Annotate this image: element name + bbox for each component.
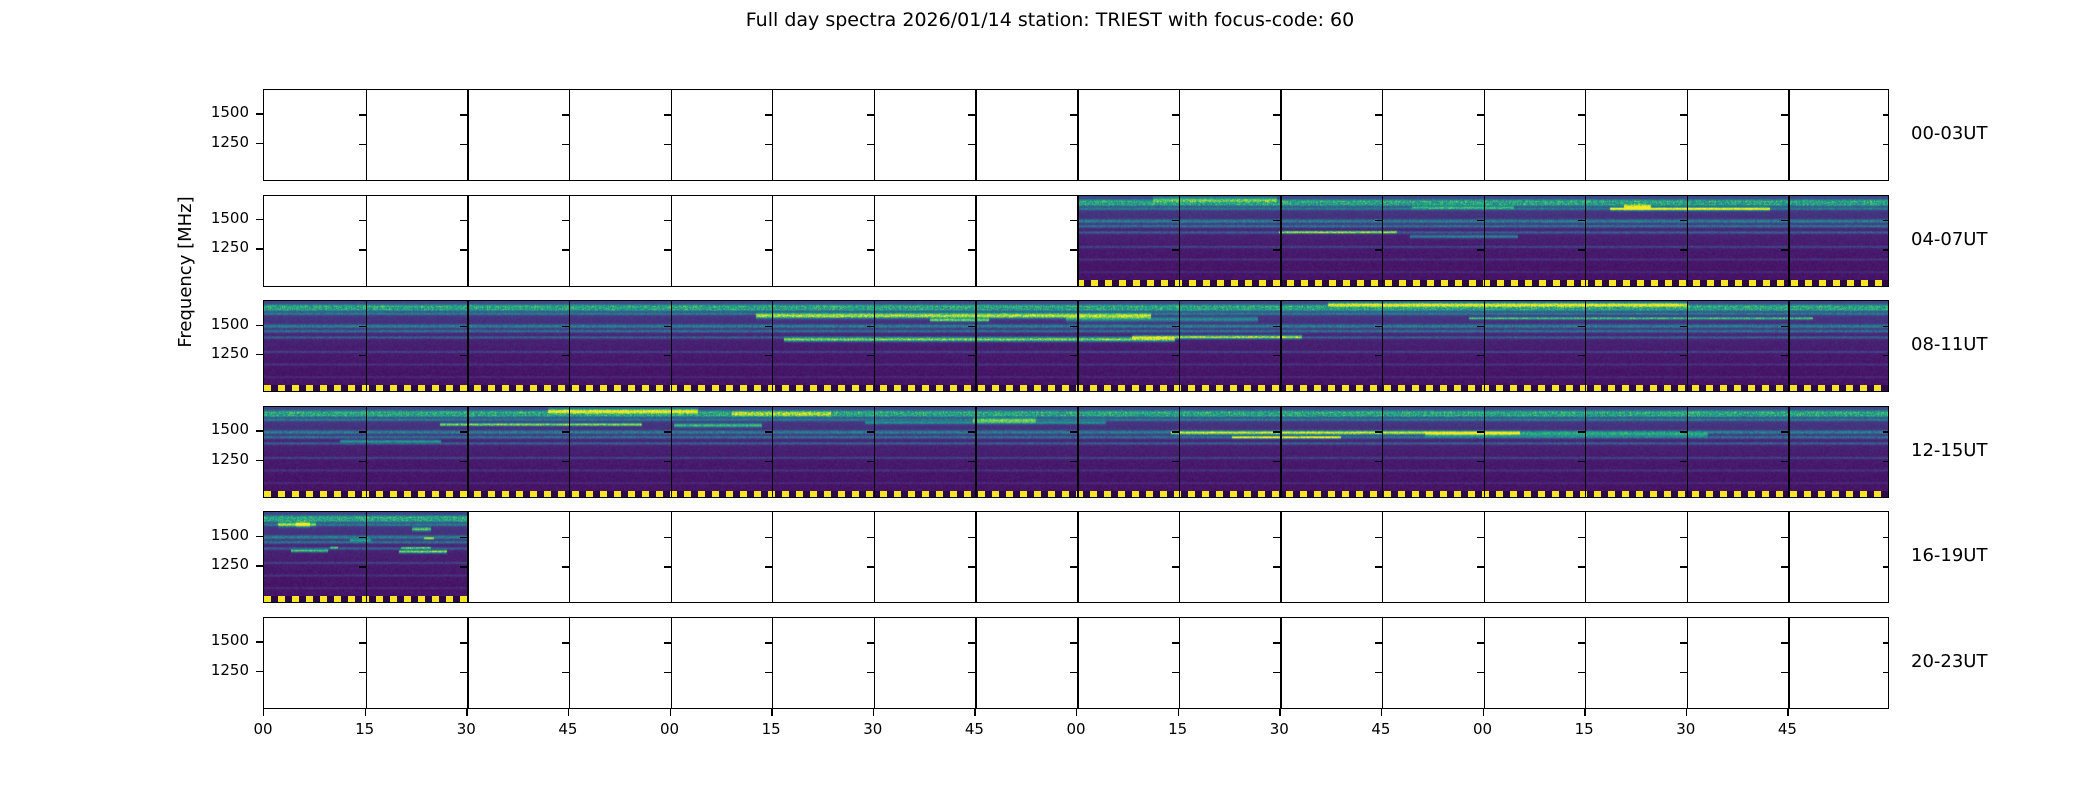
spectrogram-row-frame <box>263 617 1889 709</box>
y-tick-mark <box>1273 144 1280 145</box>
panel-separator <box>467 618 468 708</box>
panel-separator <box>1179 512 1180 602</box>
panel-separator <box>1179 301 1180 391</box>
y-tick-mark <box>1273 672 1280 673</box>
y-tick-label: 1500 <box>205 420 249 438</box>
panel-separator <box>874 301 875 391</box>
y-tick-mark <box>1578 461 1585 462</box>
y-tick-mark <box>1578 249 1585 250</box>
y-tick-mark <box>1781 642 1788 643</box>
y-tick-mark <box>460 114 467 115</box>
y-tick-mark <box>562 566 569 567</box>
y-tick-mark <box>968 326 975 327</box>
y-tick-mark <box>1273 114 1280 115</box>
y-tick-mark <box>1883 672 1889 673</box>
x-tick-label: 45 <box>954 720 994 738</box>
panel-separator <box>1788 407 1789 497</box>
y-tick-mark <box>867 114 874 115</box>
panel-separator <box>1382 196 1383 286</box>
x-tick-mark <box>873 709 874 716</box>
y-tick-mark <box>460 461 467 462</box>
y-tick-mark <box>664 144 671 145</box>
panel-separator <box>975 512 976 602</box>
y-tick-mark <box>460 326 467 327</box>
spectrogram-row-frame <box>263 89 1889 181</box>
y-tick-mark <box>359 537 366 538</box>
y-tick-mark <box>1172 431 1179 432</box>
y-tick-mark-outer <box>256 460 263 461</box>
y-tick-mark <box>1578 114 1585 115</box>
y-tick-mark <box>1273 461 1280 462</box>
y-tick-mark <box>1172 537 1179 538</box>
y-tick-mark <box>664 566 671 567</box>
y-tick-mark <box>1070 537 1077 538</box>
y-tick-mark <box>867 537 874 538</box>
panel-separator <box>1687 407 1688 497</box>
y-tick-mark <box>968 537 975 538</box>
y-tick-mark <box>359 144 366 145</box>
y-tick-mark <box>460 144 467 145</box>
panel-separator <box>671 407 672 497</box>
y-tick-mark <box>359 431 366 432</box>
spectrogram-row: 15001250 <box>263 89 1889 181</box>
y-tick-mark <box>1172 461 1179 462</box>
spectrogram-row-frame <box>263 406 1889 498</box>
y-tick-mark <box>460 431 467 432</box>
y-tick-mark <box>1273 642 1280 643</box>
panel-separator <box>772 196 773 286</box>
panel-separator <box>671 512 672 602</box>
y-tick-mark-outer <box>256 143 263 144</box>
y-tick-mark <box>1680 144 1687 145</box>
x-tick-mark <box>1483 709 1484 716</box>
x-tick-mark <box>1178 709 1179 716</box>
y-tick-mark <box>1273 355 1280 356</box>
panel-separator <box>1280 618 1281 708</box>
panel-separator <box>1382 407 1383 497</box>
panel-separator <box>569 512 570 602</box>
y-tick-mark <box>1070 566 1077 567</box>
panel-separator <box>1382 512 1383 602</box>
x-tick-label: 15 <box>1158 720 1198 738</box>
y-tick-label: 1250 <box>205 555 249 573</box>
y-tick-mark-outer <box>256 219 263 220</box>
panel-separator <box>1280 196 1281 286</box>
y-tick-mark <box>460 249 467 250</box>
panel-separator <box>1484 90 1485 180</box>
y-tick-mark <box>867 249 874 250</box>
y-tick-mark <box>664 326 671 327</box>
y-tick-mark <box>460 220 467 221</box>
panel-separator <box>569 301 570 391</box>
spectrogram-row: 15001250 <box>263 511 1889 603</box>
y-tick-mark <box>867 431 874 432</box>
figure-title: Full day spectra 2026/01/14 station: TRI… <box>0 9 2100 31</box>
panel-separator <box>671 301 672 391</box>
y-tick-mark <box>562 431 569 432</box>
panel-separator <box>975 301 976 391</box>
row-time-label: 00-03UT <box>1911 123 1987 144</box>
panel-separator <box>1484 196 1485 286</box>
panel-separator <box>975 618 976 708</box>
y-tick-mark <box>1883 249 1889 250</box>
y-tick-mark <box>765 326 772 327</box>
y-tick-mark <box>1883 326 1889 327</box>
y-tick-mark <box>867 461 874 462</box>
x-tick-mark <box>568 709 569 716</box>
spectrogram-row: 15001250 <box>263 617 1889 709</box>
y-tick-mark <box>1680 672 1687 673</box>
x-tick-mark <box>365 709 366 716</box>
y-tick-mark <box>1883 537 1889 538</box>
panel-separator <box>874 407 875 497</box>
y-tick-mark <box>968 431 975 432</box>
y-tick-mark <box>867 144 874 145</box>
y-tick-mark <box>867 355 874 356</box>
y-tick-mark <box>968 642 975 643</box>
panel-separator <box>1077 196 1079 286</box>
y-tick-mark <box>1477 144 1484 145</box>
y-tick-mark <box>460 537 467 538</box>
panel-separator <box>366 301 367 391</box>
spectrogram-row-frame <box>263 300 1889 392</box>
x-tick-label: 30 <box>1259 720 1299 738</box>
y-tick-mark <box>1477 537 1484 538</box>
y-tick-mark <box>1883 642 1889 643</box>
y-tick-mark <box>1781 537 1788 538</box>
y-tick-mark <box>562 672 569 673</box>
y-tick-mark <box>1578 326 1585 327</box>
y-tick-mark <box>1781 431 1788 432</box>
y-tick-mark <box>562 114 569 115</box>
x-tick-label: 30 <box>446 720 486 738</box>
panel-separator <box>366 407 367 497</box>
y-tick-mark <box>765 249 772 250</box>
y-tick-mark <box>1883 220 1889 221</box>
y-tick-mark <box>968 355 975 356</box>
y-tick-mark <box>1172 114 1179 115</box>
y-tick-mark <box>968 144 975 145</box>
x-tick-label: 15 <box>751 720 791 738</box>
y-tick-mark <box>1578 537 1585 538</box>
panel-separator <box>569 407 570 497</box>
x-tick-mark <box>466 709 467 716</box>
y-tick-mark <box>765 220 772 221</box>
y-tick-mark <box>664 642 671 643</box>
y-tick-mark <box>1680 566 1687 567</box>
y-tick-mark <box>1375 249 1382 250</box>
y-tick-mark <box>1781 326 1788 327</box>
panel-separator <box>1585 90 1586 180</box>
y-tick-mark <box>1578 220 1585 221</box>
y-tick-mark <box>359 566 366 567</box>
y-tick-label: 1250 <box>205 133 249 151</box>
y-tick-mark <box>1680 537 1687 538</box>
y-tick-mark <box>460 566 467 567</box>
panel-separator <box>569 196 570 286</box>
y-tick-mark <box>664 672 671 673</box>
panel-separator <box>1788 196 1789 286</box>
panel-separator <box>975 196 976 286</box>
y-tick-mark <box>1781 461 1788 462</box>
y-tick-mark <box>1578 355 1585 356</box>
panel-separator <box>1585 196 1586 286</box>
spectrogram-row-frame <box>263 195 1889 287</box>
y-tick-mark <box>1273 249 1280 250</box>
panel-separator <box>671 90 672 180</box>
panel-separator <box>1077 512 1079 602</box>
y-tick-mark <box>562 249 569 250</box>
panel-separator <box>1484 512 1485 602</box>
y-tick-mark <box>1578 144 1585 145</box>
x-tick-label: 45 <box>1361 720 1401 738</box>
y-tick-mark <box>1070 114 1077 115</box>
panel-separator <box>569 618 570 708</box>
y-tick-mark <box>1477 431 1484 432</box>
panel-separator <box>366 196 367 286</box>
y-tick-mark <box>1375 326 1382 327</box>
y-tick-mark <box>1477 249 1484 250</box>
y-tick-label: 1500 <box>205 103 249 121</box>
y-tick-mark <box>1578 566 1585 567</box>
row-time-label: 04-07UT <box>1911 229 1987 250</box>
panel-separator <box>1585 618 1586 708</box>
panel-separator <box>1382 618 1383 708</box>
panel-separator <box>1484 407 1485 497</box>
y-tick-mark <box>1680 461 1687 462</box>
x-tick-mark <box>1076 709 1077 716</box>
y-tick-mark <box>765 144 772 145</box>
y-tick-mark <box>1781 355 1788 356</box>
y-tick-mark <box>1273 431 1280 432</box>
x-tick-label: 45 <box>548 720 588 738</box>
y-tick-mark-outer <box>256 248 263 249</box>
x-tick-mark <box>1787 709 1788 716</box>
x-tick-label: 00 <box>1463 720 1503 738</box>
y-tick-mark <box>1680 431 1687 432</box>
y-tick-mark <box>1375 672 1382 673</box>
y-tick-mark <box>1477 326 1484 327</box>
y-tick-mark <box>1781 566 1788 567</box>
y-tick-mark <box>359 114 366 115</box>
panel-separator <box>874 618 875 708</box>
y-tick-mark <box>664 431 671 432</box>
y-tick-mark <box>562 461 569 462</box>
y-tick-mark <box>968 114 975 115</box>
y-tick-mark <box>765 537 772 538</box>
x-tick-label: 30 <box>1666 720 1706 738</box>
y-tick-mark <box>1375 566 1382 567</box>
panel-separator <box>467 196 468 286</box>
y-tick-mark <box>1883 431 1889 432</box>
row-time-label: 16-19UT <box>1911 545 1987 566</box>
y-tick-mark <box>765 566 772 567</box>
row-time-label: 08-11UT <box>1911 334 1987 355</box>
y-tick-mark <box>1781 220 1788 221</box>
y-tick-mark <box>562 144 569 145</box>
y-tick-mark <box>765 672 772 673</box>
y-tick-label: 1500 <box>205 631 249 649</box>
y-tick-mark <box>1680 220 1687 221</box>
y-tick-label: 1500 <box>205 526 249 544</box>
panel-separator <box>874 512 875 602</box>
panel-separator <box>1179 618 1180 708</box>
y-tick-mark <box>765 355 772 356</box>
y-tick-mark <box>968 249 975 250</box>
row-time-label: 12-15UT <box>1911 440 1987 461</box>
y-tick-mark <box>765 114 772 115</box>
y-tick-mark <box>1375 642 1382 643</box>
y-tick-mark <box>1680 642 1687 643</box>
y-tick-mark <box>867 326 874 327</box>
y-tick-label: 1500 <box>205 315 249 333</box>
y-tick-mark <box>968 220 975 221</box>
y-tick-mark <box>460 355 467 356</box>
panel-separator <box>1484 618 1485 708</box>
y-tick-mark-outer <box>256 325 263 326</box>
y-tick-mark <box>1680 326 1687 327</box>
x-tick-label: 00 <box>1056 720 1096 738</box>
y-tick-mark <box>1883 144 1889 145</box>
panel-separator <box>1687 618 1688 708</box>
x-tick-mark <box>1381 709 1382 716</box>
panel-separator <box>975 90 976 180</box>
panel-separator <box>467 301 468 391</box>
panel-separator <box>1280 512 1281 602</box>
y-tick-mark <box>1781 249 1788 250</box>
panel-separator <box>772 618 773 708</box>
panel-separator <box>1280 90 1281 180</box>
y-tick-mark <box>1172 566 1179 567</box>
y-tick-mark <box>562 537 569 538</box>
y-tick-mark <box>765 461 772 462</box>
panel-separator <box>467 90 468 180</box>
y-tick-mark <box>562 326 569 327</box>
y-tick-mark-outer <box>256 536 263 537</box>
y-tick-mark-outer <box>256 565 263 566</box>
y-tick-mark <box>1883 355 1889 356</box>
y-tick-mark-outer <box>256 430 263 431</box>
panel-separator <box>1788 90 1789 180</box>
y-tick-mark <box>1375 220 1382 221</box>
y-tick-mark <box>968 672 975 673</box>
y-tick-mark-outer <box>256 671 263 672</box>
y-tick-mark <box>1070 326 1077 327</box>
y-tick-mark <box>1375 461 1382 462</box>
panel-separator <box>1687 512 1688 602</box>
y-tick-mark <box>867 642 874 643</box>
panel-separator <box>671 618 672 708</box>
y-tick-label: 1500 <box>205 209 249 227</box>
y-tick-mark <box>1172 144 1179 145</box>
figure-canvas: Full day spectra 2026/01/14 station: TRI… <box>0 0 2100 800</box>
y-tick-mark <box>1477 672 1484 673</box>
y-tick-mark <box>1375 537 1382 538</box>
panel-separator <box>467 512 468 602</box>
x-tick-mark <box>670 709 671 716</box>
panel-separator <box>1280 301 1281 391</box>
spectrogram-row: 15001250 <box>263 195 1889 287</box>
y-tick-mark <box>562 220 569 221</box>
y-axis-label: Frequency [MHz] <box>175 142 197 402</box>
y-tick-mark <box>1273 326 1280 327</box>
y-tick-mark <box>359 220 366 221</box>
x-tick-label: 15 <box>1564 720 1604 738</box>
y-tick-mark <box>1883 566 1889 567</box>
x-tick-label: 45 <box>1767 720 1807 738</box>
y-tick-mark <box>1477 642 1484 643</box>
y-tick-mark <box>1070 249 1077 250</box>
x-tick-mark <box>1279 709 1280 716</box>
panel-separator <box>772 90 773 180</box>
y-tick-mark <box>1477 461 1484 462</box>
y-tick-mark-outer <box>256 641 263 642</box>
panel-separator <box>1077 301 1079 391</box>
panel-separator <box>1585 301 1586 391</box>
panel-separator <box>772 301 773 391</box>
y-tick-mark <box>1273 566 1280 567</box>
panel-separator <box>1788 618 1789 708</box>
panel-separator <box>671 196 672 286</box>
y-tick-mark <box>1273 537 1280 538</box>
y-tick-mark <box>1578 431 1585 432</box>
y-tick-mark <box>968 461 975 462</box>
y-tick-mark <box>664 220 671 221</box>
x-tick-mark <box>974 709 975 716</box>
y-tick-label: 1250 <box>205 344 249 362</box>
y-tick-mark <box>1070 144 1077 145</box>
y-tick-mark <box>664 537 671 538</box>
y-tick-mark <box>1172 249 1179 250</box>
y-tick-mark <box>1477 220 1484 221</box>
x-tick-label: 15 <box>345 720 385 738</box>
y-tick-mark <box>359 355 366 356</box>
x-tick-label: 30 <box>853 720 893 738</box>
panel-separator <box>772 512 773 602</box>
y-tick-mark <box>1375 114 1382 115</box>
y-tick-mark <box>1680 355 1687 356</box>
y-tick-mark <box>1781 114 1788 115</box>
x-tick-mark <box>1584 709 1585 716</box>
y-tick-mark <box>1070 672 1077 673</box>
y-tick-mark <box>1172 672 1179 673</box>
panel-separator <box>1077 90 1079 180</box>
y-tick-mark <box>1375 431 1382 432</box>
panel-separator <box>1179 90 1180 180</box>
panel-separator <box>1788 512 1789 602</box>
y-tick-mark <box>1578 642 1585 643</box>
panel-separator <box>366 512 367 602</box>
panel-separator <box>1484 301 1485 391</box>
x-tick-mark <box>1686 709 1687 716</box>
y-tick-mark <box>1070 355 1077 356</box>
y-tick-mark <box>664 114 671 115</box>
y-tick-mark <box>1172 326 1179 327</box>
y-tick-mark <box>1070 431 1077 432</box>
y-tick-mark <box>867 672 874 673</box>
y-tick-mark <box>1375 144 1382 145</box>
panel-separator <box>1382 301 1383 391</box>
x-tick-label: 00 <box>243 720 283 738</box>
y-tick-mark <box>664 461 671 462</box>
y-tick-mark <box>1070 461 1077 462</box>
panel-separator <box>366 90 367 180</box>
panel-separator <box>1179 196 1180 286</box>
x-tick-label: 00 <box>650 720 690 738</box>
y-tick-mark <box>1172 220 1179 221</box>
y-tick-mark <box>867 566 874 567</box>
y-tick-mark-outer <box>256 354 263 355</box>
